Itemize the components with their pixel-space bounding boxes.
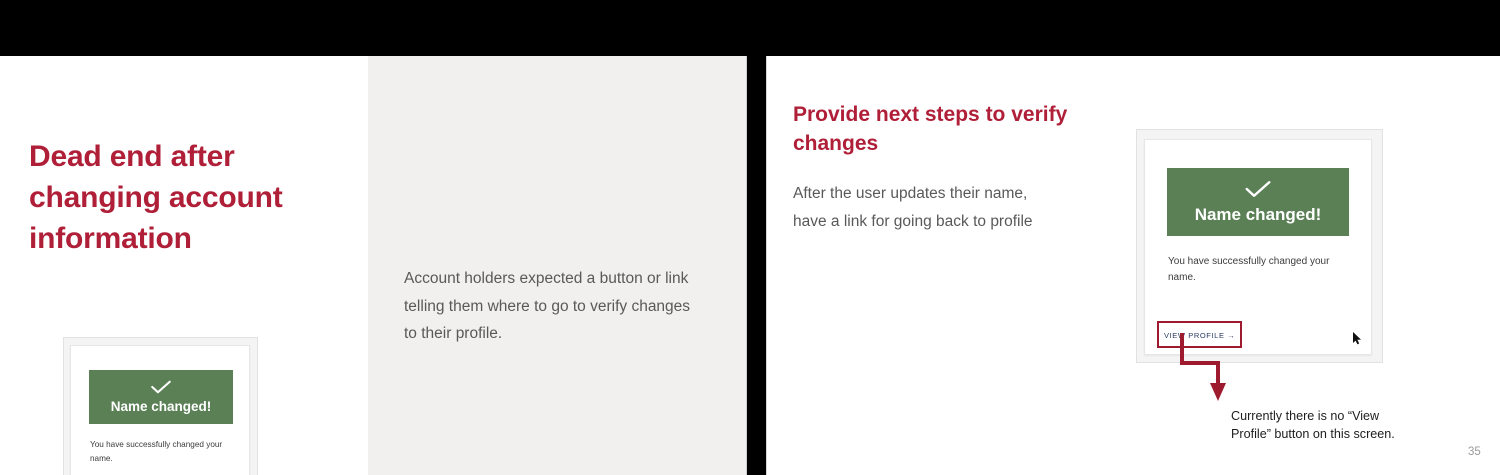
cursor-arrow-icon [1353, 332, 1362, 345]
presentation-slide-pair: Dead end after changing account informat… [0, 0, 1500, 475]
name-changed-banner: Name changed! [89, 370, 233, 424]
right-slide-annotation-text: Currently there is no “View Profile” but… [1231, 408, 1406, 444]
right-slide-title: Provide next steps to verify changes [793, 101, 1083, 159]
name-changed-label: Name changed! [1195, 205, 1322, 225]
right-slide-body-text: After the user updates their name, have … [793, 180, 1063, 236]
name-changed-banner: Name changed! [1167, 168, 1349, 236]
mockup-confirmation-text: You have successfully changed your name. [1168, 254, 1358, 286]
check-icon [150, 380, 172, 394]
mockup-confirmation-text: You have successfully changed your name. [90, 438, 240, 465]
left-slide-screenshot-mockup: Name changed! You have successfully chan… [63, 337, 258, 475]
check-icon [1244, 180, 1272, 198]
mockup-card: Name changed! You have successfully chan… [70, 345, 250, 475]
elbow-arrow-icon [1180, 333, 1260, 408]
slide-left: Dead end after changing account informat… [0, 56, 747, 475]
name-changed-label: Name changed! [111, 399, 212, 414]
page-number-right: 35 [1468, 446, 1481, 458]
left-slide-body-text: Account holders expected a button or lin… [404, 265, 704, 348]
left-slide-title: Dead end after changing account informat… [29, 136, 359, 259]
